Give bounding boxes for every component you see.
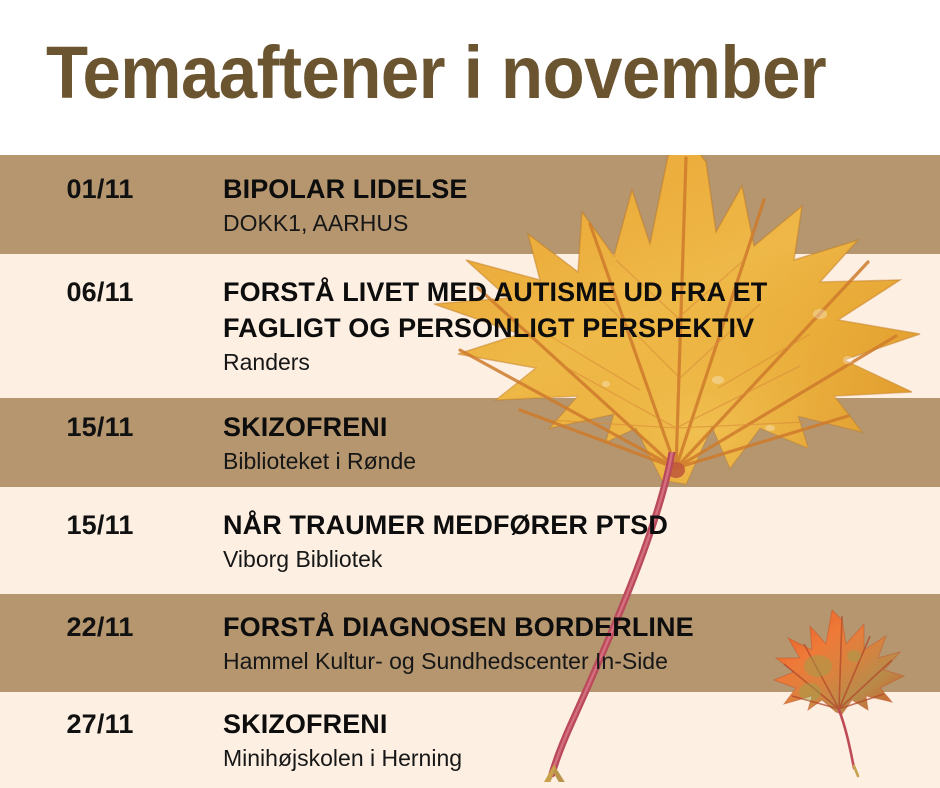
event-body: SKIZOFRENIMinihøjskolen i Herning [223,706,923,774]
event-body: FORSTÅ DIAGNOSEN BORDERLINEHammel Kultur… [223,609,923,677]
event-venue: Minihøjskolen i Herning [223,743,923,774]
event-title: SKIZOFRENI [223,409,923,445]
event-venue: Biblioteket i Rønde [223,446,923,477]
event-venue: Viborg Bibliotek [223,544,923,575]
event-venue: Randers [223,347,923,378]
event-date: 15/11 [0,510,200,541]
event-venue: DOKK1, AARHUS [223,208,923,239]
schedule-row[interactable]: 15/11NÅR TRAUMER MEDFØRER PTSDViborg Bib… [0,487,940,594]
event-date: 27/11 [0,709,200,740]
schedule-row[interactable]: 27/11SKIZOFRENIMinihøjskolen i Herning [0,692,940,788]
schedule-row[interactable]: 06/11FORSTÅ LIVET MED AUTISME UD FRA ET … [0,254,940,398]
event-venue: Hammel Kultur- og Sundhedscenter In-Side [223,646,923,677]
schedule-row[interactable]: 22/11FORSTÅ DIAGNOSEN BORDERLINEHammel K… [0,594,940,692]
event-title: FORSTÅ LIVET MED AUTISME UD FRA ET FAGLI… [223,274,923,346]
poster-canvas: Temaaftener i november 01/11BIPOLAR LIDE… [0,0,940,788]
event-date: 06/11 [0,277,200,308]
schedule-list: 01/11BIPOLAR LIDELSEDOKK1, AARHUS06/11FO… [0,0,940,788]
schedule-row[interactable]: 15/11SKIZOFRENIBiblioteket i Rønde [0,398,940,487]
event-body: NÅR TRAUMER MEDFØRER PTSDViborg Bibliote… [223,507,923,575]
event-body: SKIZOFRENIBiblioteket i Rønde [223,409,923,477]
event-title: NÅR TRAUMER MEDFØRER PTSD [223,507,923,543]
event-date: 15/11 [0,412,200,443]
schedule-row[interactable]: 01/11BIPOLAR LIDELSEDOKK1, AARHUS [0,155,940,254]
event-date: 22/11 [0,612,200,643]
event-title: BIPOLAR LIDELSE [223,171,923,207]
event-title: SKIZOFRENI [223,706,923,742]
event-body: FORSTÅ LIVET MED AUTISME UD FRA ET FAGLI… [223,274,923,378]
event-title: FORSTÅ DIAGNOSEN BORDERLINE [223,609,923,645]
event-body: BIPOLAR LIDELSEDOKK1, AARHUS [223,171,923,239]
event-date: 01/11 [0,174,200,205]
